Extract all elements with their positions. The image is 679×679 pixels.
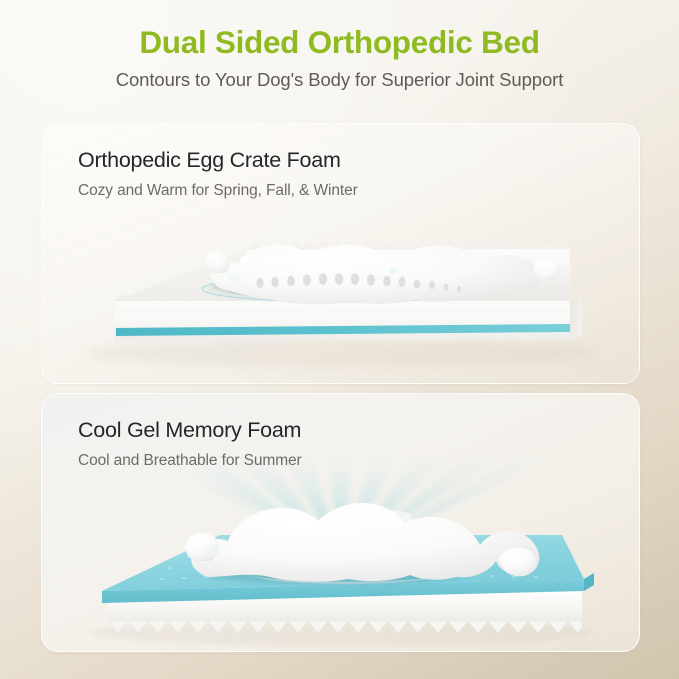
mattress-shadow [87,339,597,367]
card-subtitle: Cool and Breathable for Summer [78,452,302,471]
page-subtitle: Contours to Your Dog's Body for Superior… [0,69,679,91]
card-text-block: Orthopedic Egg Crate Foam Cozy and Warm … [78,148,358,200]
card-title: Cool Gel Memory Foam [78,418,302,444]
card-subtitle: Cozy and Warm for Spring, Fall, & Winter [78,182,358,201]
egg-crate-foam-with-dog-illustration [42,203,639,378]
card-text-block: Cool Gel Memory Foam Cool and Breathable… [78,418,302,470]
egg-crate-foam-svg [42,203,639,378]
cool-gel-foam-svg [42,451,639,651]
card-orthopedic-egg-crate-foam: Orthopedic Egg Crate Foam Cozy and Warm … [41,123,640,384]
gel-right-face [584,573,594,591]
mattress-right-face [570,295,582,341]
cool-gel-memory-foam-with-dog-illustration [42,451,639,651]
product-infographic-page: Dual Sided Orthopedic Bed Contours to Yo… [0,0,679,679]
page-title: Dual Sided Orthopedic Bed [0,24,679,60]
card-title: Orthopedic Egg Crate Foam [78,148,358,174]
dog-body [191,503,539,582]
card-cool-gel-memory-foam: Cool Gel Memory Foam Cool and Breathable… [41,393,640,652]
header: Dual Sided Orthopedic Bed Contours to Yo… [0,24,679,91]
